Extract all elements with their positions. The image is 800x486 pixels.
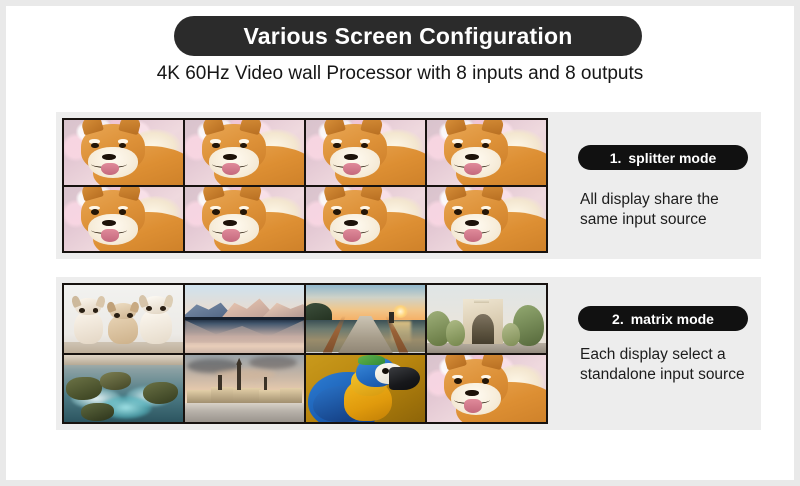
video-wall-tile[interactable]	[185, 355, 304, 423]
splitter-mode-info: 1. splitter mode All display share the s…	[568, 112, 758, 259]
section-splitter-mode: 1. splitter mode All display share the s…	[56, 112, 761, 259]
video-wall-tile[interactable]	[306, 355, 425, 423]
mode-name: splitter mode	[628, 150, 716, 166]
shiba-inu-image	[64, 187, 183, 252]
shiba-inu-image	[427, 120, 546, 185]
shiba-inu-image	[185, 120, 304, 185]
video-wall-tile[interactable]	[64, 355, 183, 423]
shiba-inu-image	[306, 187, 425, 252]
waterfall-image	[64, 355, 183, 423]
video-wall-tile[interactable]	[427, 120, 546, 185]
video-wall-tile[interactable]	[306, 120, 425, 185]
shiba-inu-image	[427, 355, 546, 423]
chihuahua-puppies-image	[64, 285, 183, 353]
video-wall-tile[interactable]	[306, 285, 425, 353]
video-wall-tile[interactable]	[185, 120, 304, 185]
mountain-lake-image	[185, 285, 304, 353]
video-wall-tile[interactable]	[427, 285, 546, 353]
video-wall-splitter	[62, 118, 548, 253]
page-subtitle: 4K 60Hz Video wall Processor with 8 inpu…	[6, 63, 794, 85]
video-wall-tile[interactable]	[64, 285, 183, 353]
shiba-inu-image	[306, 120, 425, 185]
slide-page: Various Screen Configuration 4K 60Hz Vid…	[6, 6, 794, 480]
video-wall-tile[interactable]	[64, 187, 183, 252]
mode-badge-splitter: 1. splitter mode	[578, 145, 748, 170]
mode-description: Each display select a standalone input s…	[580, 345, 756, 386]
video-wall-matrix	[62, 283, 548, 424]
video-wall-tile[interactable]	[185, 187, 304, 252]
video-wall-tile[interactable]	[427, 187, 546, 252]
mode-number: 1.	[610, 150, 622, 166]
shiba-inu-image	[64, 120, 183, 185]
video-wall-tile[interactable]	[427, 355, 546, 423]
page-title-pill: Various Screen Configuration	[174, 16, 642, 56]
city-skyline-image	[185, 355, 304, 423]
video-wall-tile[interactable]	[64, 120, 183, 185]
video-wall-tile[interactable]	[306, 187, 425, 252]
mode-badge-matrix: 2. matrix mode	[578, 306, 748, 331]
shiba-inu-image	[185, 187, 304, 252]
mode-number: 2.	[612, 311, 624, 327]
arc-de-triomphe-image	[427, 285, 546, 353]
video-wall-tile[interactable]	[185, 285, 304, 353]
shiba-inu-image	[427, 187, 546, 252]
mode-description: All display share the same input source	[580, 190, 756, 231]
sunset-pier-image	[306, 285, 425, 353]
matrix-mode-info: 2. matrix mode Each display select a sta…	[568, 277, 758, 430]
page-title: Various Screen Configuration	[244, 23, 573, 50]
section-matrix-mode: 2. matrix mode Each display select a sta…	[56, 277, 761, 430]
mode-name: matrix mode	[631, 311, 714, 327]
macaw-parrot-image	[306, 355, 425, 423]
